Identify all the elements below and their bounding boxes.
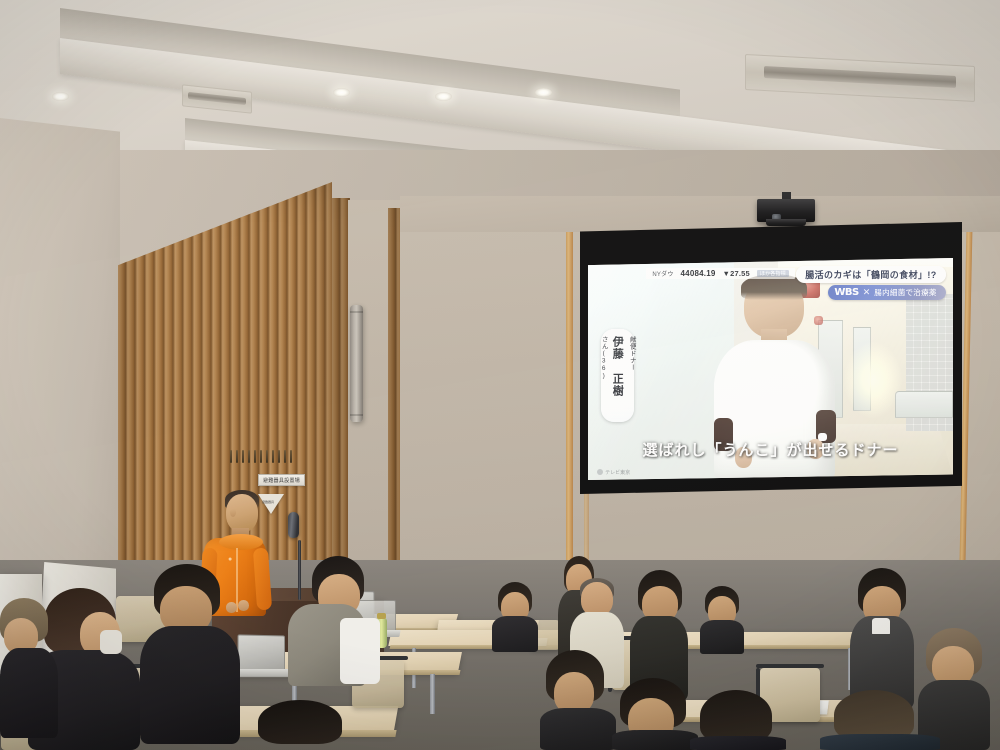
coat-hook-icon [284,450,286,463]
broadcast-subbanner: WBS ✕ 腸内細菌で治療薬 [828,285,945,300]
name-tag-name: 伊藤 正樹 [609,336,625,397]
projection-screen-surface[interactable]: NYダウ 44084.19 ▼27.55 ほか各指標 腸活のカギは「鶴岡の食材」… [588,258,953,480]
downlight-icon [52,92,69,101]
audience-member [700,586,744,654]
wall-speaker [350,305,363,422]
coat-hook-icon [272,450,274,463]
station-bug-text: テレビ東京 [605,469,630,476]
broadcast-station-bug: テレビ東京 [597,469,630,476]
audience-hair [258,700,342,744]
audience-member [140,564,240,744]
audience-torso [0,648,58,738]
coat-hook-icon [248,450,250,463]
presenter-hood-collar [219,534,263,550]
audience-hair [834,690,914,740]
name-tag-role: 献便ドナー [626,336,636,371]
coat-hook-icon [242,450,244,463]
coat-hook-icon [290,450,292,463]
audience-member [850,568,914,708]
ticker-change: ▼27.55 [723,269,750,278]
projected-broadcast-image: NYダウ 44084.19 ▼27.55 ほか各指標 腸活のカギは「鶴岡の食材」… [588,258,953,480]
audience-head [581,582,613,616]
emergency-triangle-label: 避難器具 [262,500,274,504]
laptop-screen[interactable] [238,634,285,671]
station-bug-dot-icon [597,469,603,475]
broadcast-ticker: NYダウ 44084.19 ▼27.55 ほか各指標 [646,268,795,279]
emergency-triangle-sign-icon [258,494,284,514]
microphone[interactable] [288,512,299,538]
logo-separator-icon: ✕ [863,287,871,298]
audience-member [492,582,538,652]
audience-torso [492,616,538,652]
laptop-keyboard-base[interactable] [231,669,291,677]
broadcast-headline: 腸活のカギは「鶴岡の食材」!? [796,266,946,283]
audience-member [612,678,698,750]
audience-torso [700,620,744,654]
audience-hair [700,690,772,742]
audience-torso [540,708,616,750]
audience-torso [612,730,698,750]
broadcast-subbanner-text: 腸内細菌で治療薬 [874,287,936,298]
emergency-equipment-sign: 避難器具設置場 [258,474,305,486]
broadcast-subtitle: 選ばれし「うんこ」が出せるドナー [588,439,953,460]
coat-hook-icon [266,450,268,463]
projector-body-lower [766,219,806,226]
audience-member [820,690,940,750]
broadcast-top-banner: 腸活のカギは「鶴岡の食材」!? WBS ✕ 腸内細菌で治療薬 [796,266,946,300]
ticker-tag: ほか各指標 [757,270,789,277]
coat-hook-icon [254,450,256,463]
tv-scene-counter [895,391,953,418]
broadcast-name-tag: 献便ドナー 伊藤 正樹 さん(36) [601,329,634,422]
chair-frame [756,664,824,668]
name-tag-age: さん(36) [598,336,608,380]
audience-white-shirt [340,618,380,684]
emergency-sign-text: 避難器具設置場 [263,477,300,484]
coat-hook-icon [230,450,232,463]
coat-hook-rail [230,450,292,463]
ticker-label: NYダウ [652,269,673,278]
presenter-hoodie-logo-icon: ● [228,556,232,563]
audience-member [540,650,616,750]
audience-collar [872,618,890,634]
downlight-icon [435,92,452,101]
table-leg [430,674,435,714]
wbs-logo: WBS [834,287,858,298]
coat-hook-icon [260,450,262,463]
audience-torso [140,626,240,744]
coat-hook-icon [236,450,238,463]
audience-member [690,690,786,750]
downlight-icon [535,88,552,97]
audience-member [0,598,60,738]
audience-torso [690,736,786,750]
coat-hook-icon [278,450,280,463]
tv-scene-corridor-light [844,342,902,417]
presenter-ear [230,508,236,517]
audience-member [250,700,360,750]
face-mask [100,630,122,654]
downlight-icon [333,88,350,97]
left-return-wall [0,118,120,632]
audience-torso [820,734,940,750]
ticker-value: 44084.19 [681,269,716,278]
audience-member-grey-vest [288,556,380,686]
conference-room-photo: NYダウ 44084.19 ▼27.55 ほか各指標 腸活のカギは「鶴岡の食材」… [0,0,1000,750]
